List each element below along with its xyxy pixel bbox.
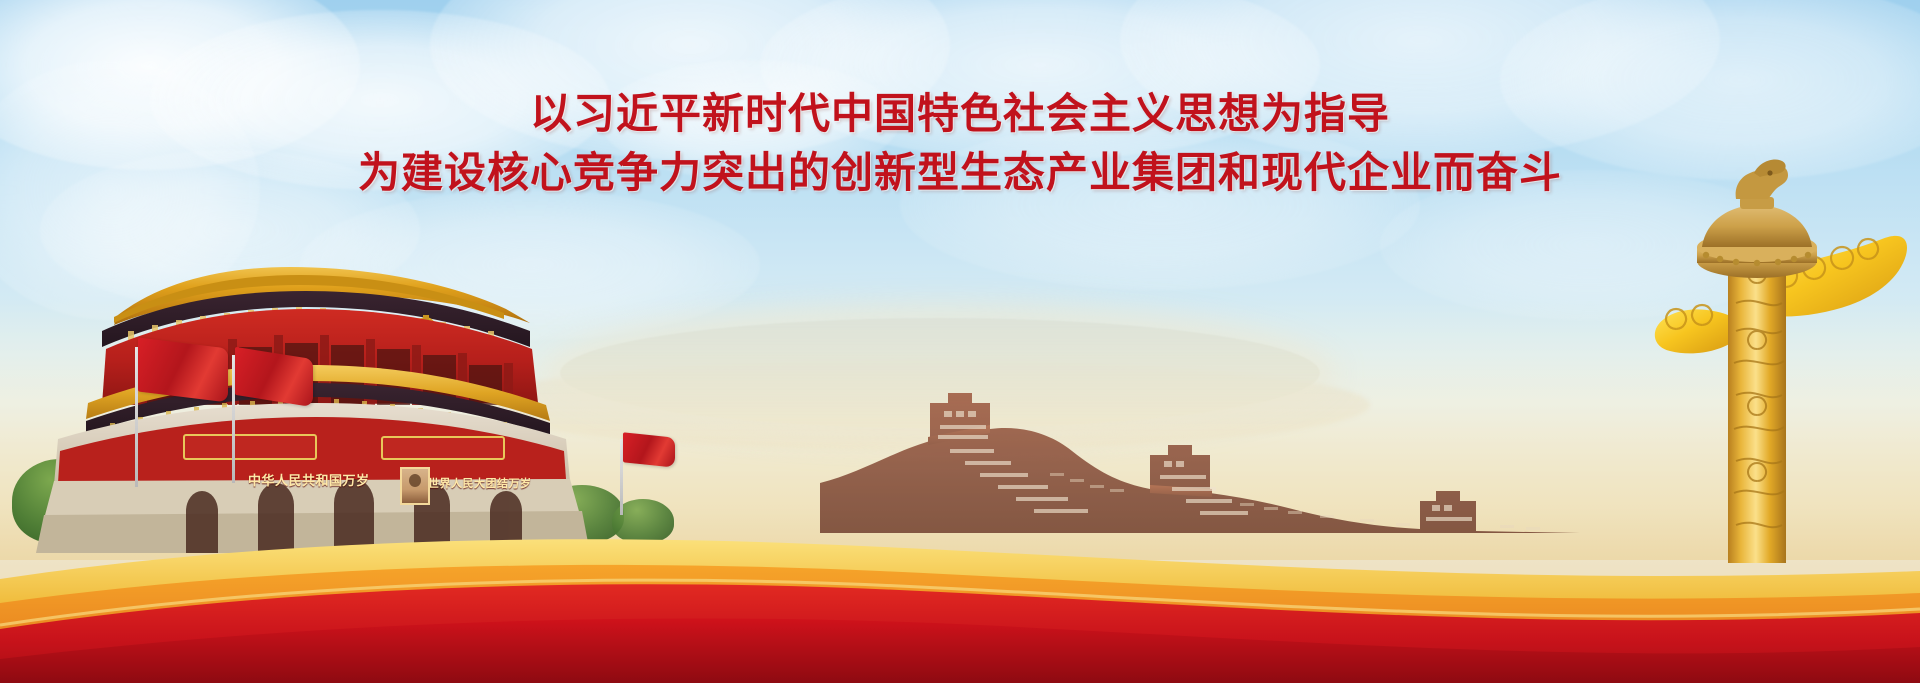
flag-icon: [623, 432, 675, 467]
flag-icon: [138, 337, 228, 402]
propaganda-banner: 以习近平新时代中国特色社会主义思想为指导 为建设核心竞争力突出的创新型生态产业集…: [0, 0, 1920, 683]
ribbon-icon: [0, 483, 1920, 683]
